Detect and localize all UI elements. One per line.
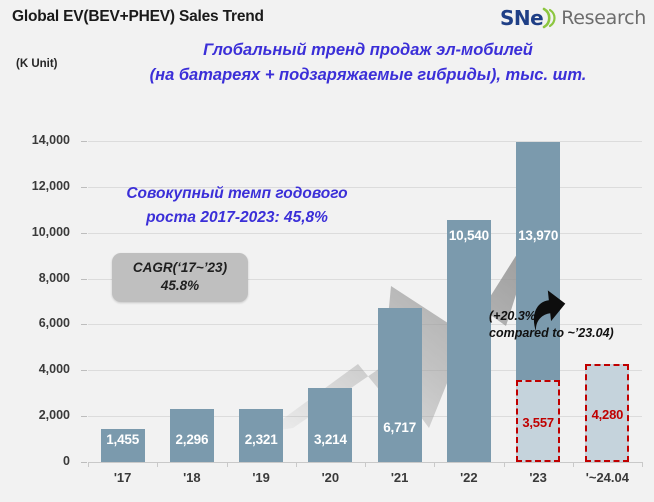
x-axis-tick-label: '23 (504, 470, 573, 485)
x-axis: '17'18'19'20'21'22'23'~24.04 (88, 466, 642, 496)
projection-bar: 4,280 (585, 364, 629, 462)
x-axis-tick-label: '19 (227, 470, 296, 485)
x-axis-tick-mark (573, 462, 574, 467)
bar: 3,214 (308, 388, 352, 462)
y-axis-tick-mark (81, 370, 87, 371)
cagr-badge-line-2: 45.8% (161, 278, 199, 293)
y-axis-tick-mark (81, 416, 87, 417)
bar-value-label: 2,296 (170, 432, 214, 447)
curved-up-arrow-icon (530, 288, 574, 334)
cagr-callout-ru: Совокупный темп годового роста 2017-2023… (92, 182, 382, 230)
cagr-ru-line-1: Совокупный темп годового (126, 185, 347, 202)
y-axis-tick-mark (81, 462, 87, 463)
y-axis-unit-label: (K Unit) (16, 58, 58, 70)
y-axis-tick-label: 14,000 (0, 133, 70, 147)
subtitle-line-2: (на батареях + подзаряжаемые гибриды), т… (88, 63, 648, 88)
x-axis-tick-label: '20 (296, 470, 365, 485)
growth-note-line-1: (+20.3% (489, 309, 536, 323)
x-axis-tick-mark (157, 462, 158, 467)
y-axis-tick-mark (81, 324, 87, 325)
x-axis-tick-mark (88, 462, 89, 467)
cagr-badge: CAGR(‘17~’23) 45.8% (112, 253, 248, 302)
x-axis-tick-label: '22 (434, 470, 503, 485)
bar-value-label: 1,455 (101, 432, 145, 447)
bar-value-label: 6,717 (378, 420, 422, 435)
y-axis-tick-label: 2,000 (0, 408, 70, 422)
y-axis-tick-label: 12,000 (0, 179, 70, 193)
x-axis-tick-mark (227, 462, 228, 467)
subtitle-line-1: Глобальный тренд продаж эл-мобилей (203, 41, 533, 59)
bar-value-label: 13,970 (516, 228, 560, 243)
y-axis-tick-label: 10,000 (0, 225, 70, 239)
chart-page: Global EV(BEV+PHEV) Sales Trend SNe Rese… (0, 0, 654, 502)
bar: 2,296 (170, 409, 214, 462)
sne-research-logo: SNe Research (500, 4, 646, 32)
bar-value-label: 3,214 (308, 432, 352, 447)
logo-suffix-text: Research (561, 7, 646, 29)
bar: 6,717 (378, 308, 422, 462)
y-axis-tick-label: 4,000 (0, 362, 70, 376)
cagr-badge-line-1: CAGR(‘17~’23) (133, 260, 227, 275)
y-axis-tick-mark (81, 141, 87, 142)
y-axis-tick-mark (81, 279, 87, 280)
logo-brand-text: SNe (500, 6, 543, 30)
x-axis-tick-mark (504, 462, 505, 467)
chart-subtitle: Глобальный тренд продаж эл-мобилей (на б… (88, 38, 648, 88)
x-axis-tick-mark (642, 462, 643, 467)
projection-bar-value-label: 4,280 (587, 407, 627, 422)
x-axis-tick-label: '~24.04 (573, 470, 642, 485)
y-axis-tick-label: 8,000 (0, 271, 70, 285)
x-axis-tick-label: '17 (88, 470, 157, 485)
bar: 2,321 (239, 409, 283, 462)
logo-arc-icon (541, 6, 558, 30)
bar: 10,540 (447, 220, 491, 462)
y-axis-tick-mark (81, 187, 87, 188)
bar-value-label: 2,321 (239, 432, 283, 447)
cagr-ru-line-2: роста 2017-2023: 45,8% (146, 209, 328, 226)
x-axis-tick-mark (365, 462, 366, 467)
x-axis-tick-mark (296, 462, 297, 467)
x-axis-tick-label: '21 (365, 470, 434, 485)
y-axis-tick-mark (81, 233, 87, 234)
bar: 1,455 (101, 429, 145, 462)
y-axis-tick-label: 0 (0, 454, 70, 468)
x-axis-tick-mark (434, 462, 435, 467)
header: Global EV(BEV+PHEV) Sales Trend SNe Rese… (0, 0, 654, 36)
projection-bar-value-label: 3,557 (518, 415, 558, 430)
page-title: Global EV(BEV+PHEV) Sales Trend (12, 8, 264, 26)
y-axis-tick-label: 6,000 (0, 316, 70, 330)
bar-value-label: 10,540 (447, 228, 491, 243)
projection-bar: 3,557 (516, 380, 560, 462)
x-axis-tick-label: '18 (157, 470, 226, 485)
